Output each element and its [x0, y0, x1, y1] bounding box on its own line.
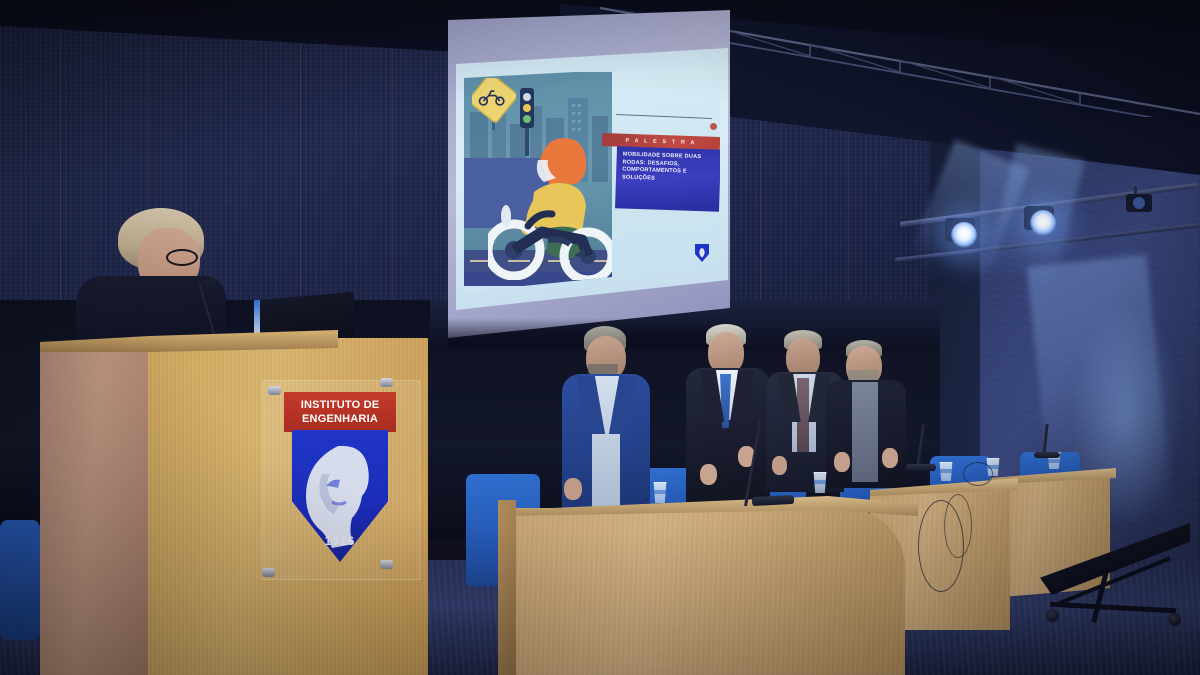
plaque-red-bar: INSTITUTO DE ENGENHARIA — [284, 392, 396, 432]
presentation-slide: P A L E S T R A MOBILIDADE SOBRE DUAS RO… — [464, 64, 720, 292]
plaque-standoff — [262, 568, 275, 577]
plaque-standoff — [380, 378, 393, 387]
microphone-base — [1034, 452, 1060, 458]
slide-kicker-text: P A L E S T R A — [625, 137, 696, 145]
slide-title-box: MOBILIDADE SOBRE DUAS RODAS: DESAFIOS, C… — [615, 146, 720, 211]
cup-band — [1048, 459, 1060, 463]
panelist-1 — [556, 326, 652, 516]
cup-band — [940, 469, 952, 473]
hand — [882, 448, 898, 468]
motorcyclist-icon — [488, 100, 612, 280]
cup-band — [654, 490, 666, 494]
hand — [834, 452, 850, 472]
hand — [564, 478, 582, 500]
stage-light-2 — [1030, 210, 1056, 236]
microphone-base — [906, 464, 936, 471]
stage-monitor-wedge — [1040, 523, 1190, 623]
lectern-side-panel — [40, 345, 152, 675]
laptop-edge — [254, 300, 260, 339]
panelist-4 — [824, 340, 908, 488]
wedge-wheel — [1046, 609, 1059, 622]
projection-screen: P A L E S T R A MOBILIDADE SOBRE DUAS RO… — [430, 8, 730, 338]
wedge-leg — [1050, 602, 1176, 614]
instituto-de-engenharia-shield-icon — [695, 244, 709, 262]
hand — [700, 464, 717, 485]
instituto-de-engenharia-plaque-logo: INSTITUTO DE ENGENHARIA 1916 — [284, 392, 396, 568]
stage-light-3 — [1122, 186, 1158, 224]
plaque-standoff — [268, 386, 281, 395]
cable-loop — [944, 494, 972, 558]
sweater — [852, 382, 878, 482]
hand — [772, 456, 787, 475]
slide-accent-dot — [710, 123, 717, 130]
podium-microphone-head[interactable] — [204, 278, 216, 287]
cable-loop — [963, 462, 993, 486]
plaque-org-line-1: INSTITUTO DE — [301, 398, 380, 412]
foreground-chair[interactable] — [0, 520, 40, 640]
stage-light-1 — [951, 222, 977, 248]
plaque-org-line-2: ENGENHARIA — [302, 412, 378, 426]
slide-illustration — [464, 72, 612, 286]
table-segment-main — [505, 508, 905, 675]
auditorium-photo: P A L E S T R A MOBILIDADE SOBRE DUAS RO… — [0, 0, 1200, 675]
panelist-2 — [684, 324, 772, 502]
wedge-wheel — [1168, 613, 1181, 626]
table-left-edge — [498, 500, 516, 675]
plaque-year: 1916 — [284, 534, 396, 548]
speaker-glasses — [166, 249, 198, 266]
cup-band — [814, 480, 826, 484]
